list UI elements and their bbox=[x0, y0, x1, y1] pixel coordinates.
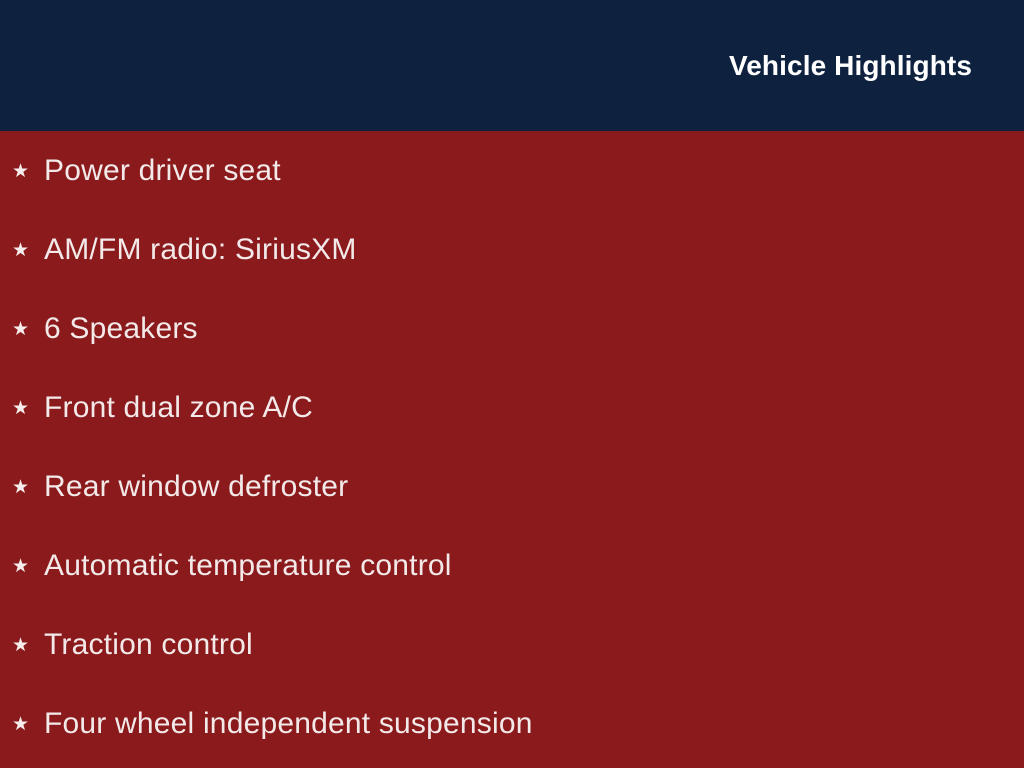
star-bullet-icon: ★ bbox=[12, 636, 44, 655]
vehicle-highlights-slide: Vehicle Highlights ★ Power driver seat ★… bbox=[0, 0, 1024, 768]
star-bullet-icon: ★ bbox=[12, 162, 44, 181]
star-bullet-icon: ★ bbox=[12, 715, 44, 734]
highlight-label: Rear window defroster bbox=[44, 469, 1024, 505]
list-item: ★ Rear window defroster bbox=[0, 469, 1024, 548]
highlight-label: 6 Speakers bbox=[44, 311, 1024, 347]
slide-body: ★ Power driver seat ★ AM/FM radio: Siriu… bbox=[0, 131, 1024, 768]
highlight-label: Front dual zone A/C bbox=[44, 390, 1024, 426]
highlight-label: AM/FM radio: SiriusXM bbox=[44, 232, 1024, 268]
star-bullet-icon: ★ bbox=[12, 320, 44, 339]
list-item: ★ Power driver seat bbox=[0, 153, 1024, 232]
star-bullet-icon: ★ bbox=[12, 557, 44, 576]
highlight-label: Traction control bbox=[44, 627, 1024, 663]
page-title: Vehicle Highlights bbox=[729, 51, 972, 82]
vehicle-highlights-list: ★ Power driver seat ★ AM/FM radio: Siriu… bbox=[0, 153, 1024, 768]
star-bullet-icon: ★ bbox=[12, 241, 44, 260]
highlight-label: Power driver seat bbox=[44, 153, 1024, 189]
star-bullet-icon: ★ bbox=[12, 399, 44, 418]
list-item: ★ Traction control bbox=[0, 627, 1024, 706]
list-item: ★ 6 Speakers bbox=[0, 311, 1024, 390]
list-item: ★ Four wheel independent suspension bbox=[0, 706, 1024, 768]
star-bullet-icon: ★ bbox=[12, 478, 44, 497]
highlight-label: Automatic temperature control bbox=[44, 548, 1024, 584]
list-item: ★ AM/FM radio: SiriusXM bbox=[0, 232, 1024, 311]
slide-header: Vehicle Highlights bbox=[0, 0, 1024, 131]
highlight-label: Four wheel independent suspension bbox=[44, 706, 1024, 742]
list-item: ★ Automatic temperature control bbox=[0, 548, 1024, 627]
list-item: ★ Front dual zone A/C bbox=[0, 390, 1024, 469]
